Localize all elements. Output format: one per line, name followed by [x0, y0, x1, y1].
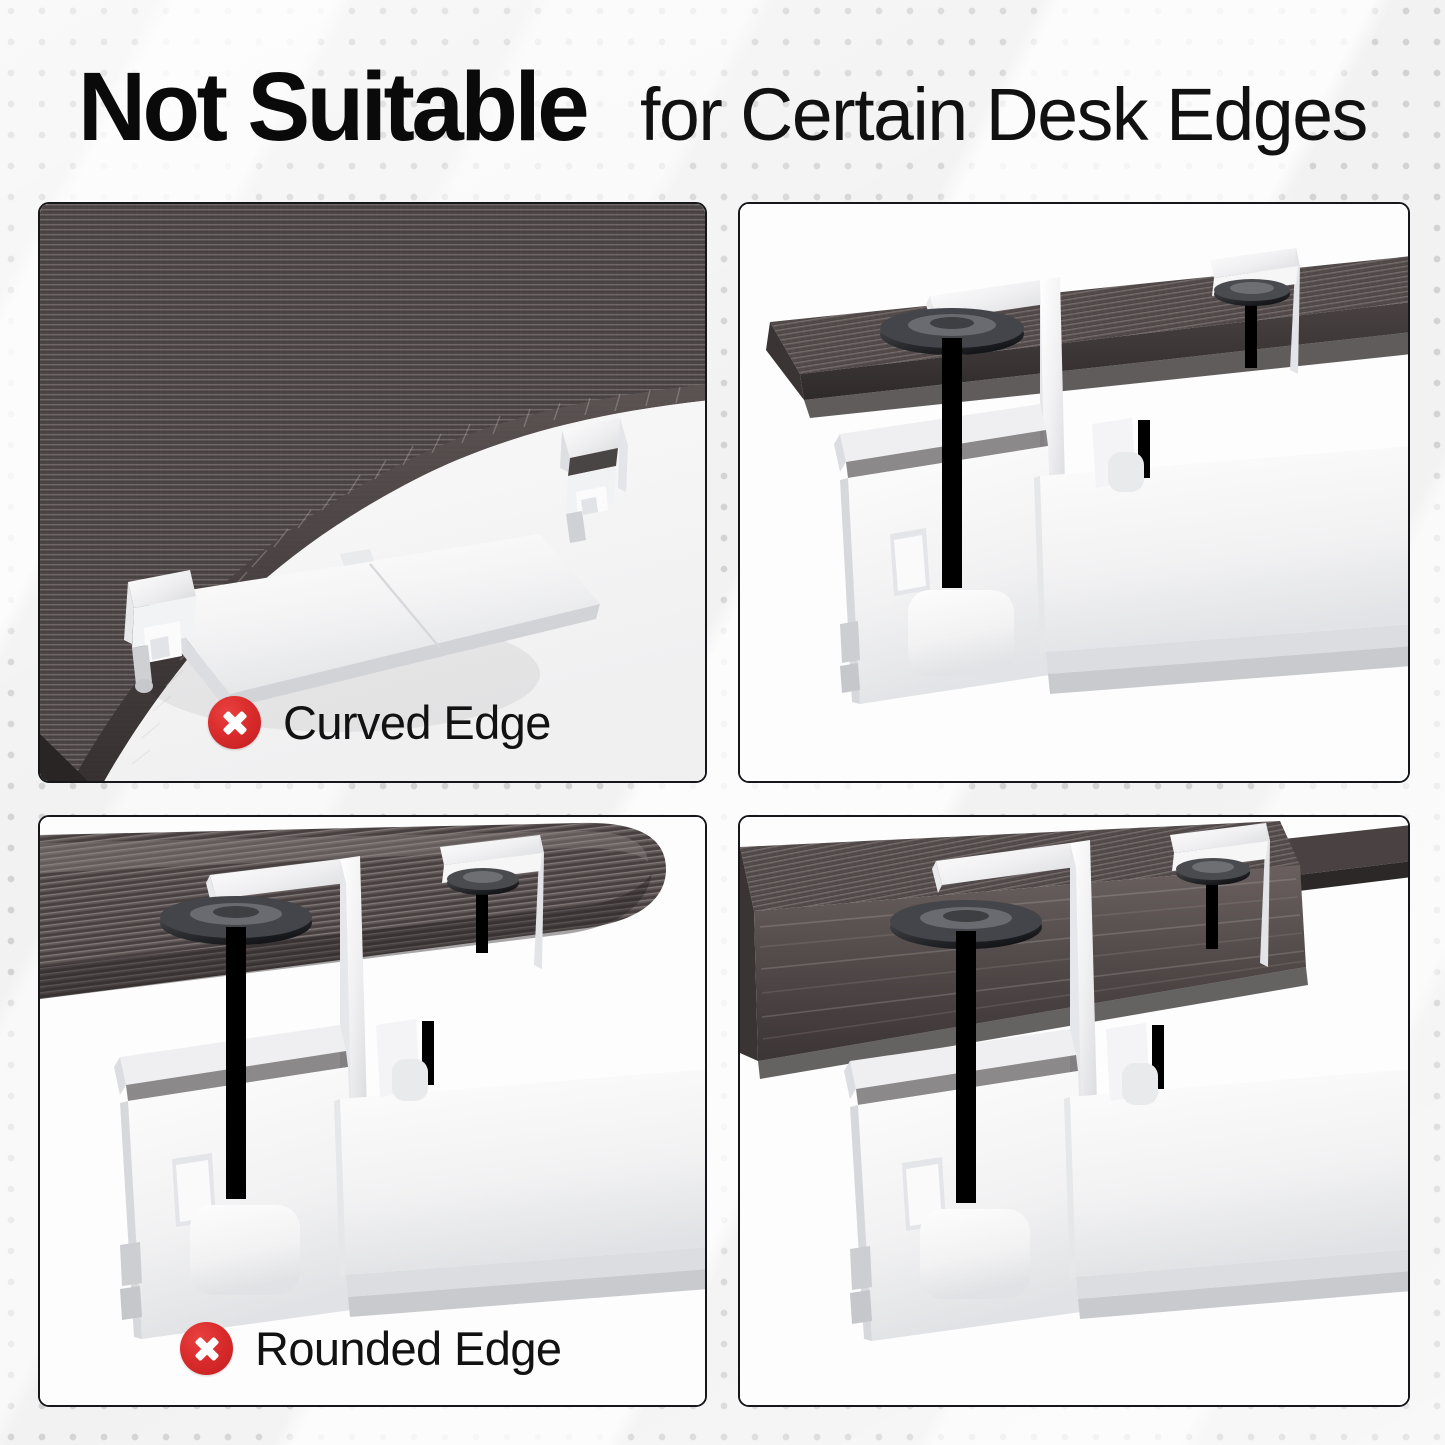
headline-strong: Not Suitable — [78, 58, 586, 155]
keyboard-tray — [1064, 1069, 1410, 1319]
label-text: Rounded Edge — [255, 1325, 561, 1372]
label-curved-edge: Curved Edge — [208, 696, 551, 749]
panel-curved-edge: Curved Edge — [38, 202, 707, 783]
keyboard-tray — [334, 1069, 707, 1317]
clamp-grip-pad — [190, 1205, 300, 1295]
panel-rounded-edge: Rounded Edge — [38, 815, 707, 1407]
illustration-edge-with-crossbeam — [740, 817, 1408, 1405]
label-rounded-edge: Rounded Edge — [180, 1322, 561, 1375]
headline-light: for Certain Desk Edges — [640, 78, 1367, 152]
illustration-beveled-edge — [740, 204, 1408, 781]
tray-post — [376, 1019, 434, 1101]
clamp-screw — [226, 927, 246, 1199]
page-title: Not Suitable for Certain Desk Edges — [78, 58, 1408, 168]
clamp-grip-pad — [908, 590, 1014, 676]
label-text: Curved Edge — [283, 699, 551, 746]
panel-edge-with-crossbeam: Edge with Crossbeam — [738, 815, 1410, 1407]
crossbeam-artwork — [740, 817, 1410, 1407]
clamp-rear — [1210, 248, 1300, 412]
x-mark-icon — [180, 1322, 233, 1375]
clamp-screw — [942, 338, 962, 588]
keyboard-tray — [1034, 446, 1410, 694]
infographic-page: Not Suitable for Certain Desk Edges — [0, 0, 1445, 1445]
x-mark-icon — [208, 696, 261, 749]
illustration-curved-edge — [40, 204, 705, 781]
clamp-screw — [956, 931, 976, 1203]
tray-post — [1106, 1023, 1164, 1105]
illustration-rounded-edge — [40, 817, 705, 1405]
panel-beveled-edge: Beveled Edge — [738, 202, 1410, 783]
rounded-edge-artwork — [40, 817, 707, 1407]
clamp-grip-pad — [920, 1209, 1030, 1299]
beveled-edge-artwork — [740, 204, 1410, 783]
tray-post — [1092, 418, 1150, 492]
